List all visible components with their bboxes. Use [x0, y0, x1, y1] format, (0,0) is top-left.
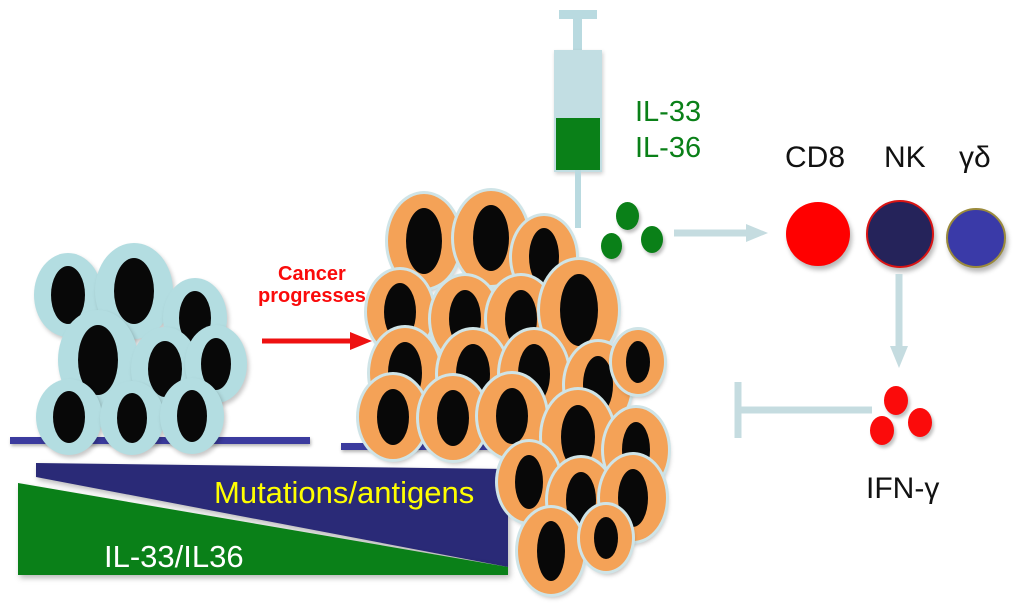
cytokine-dot	[616, 202, 639, 230]
cytokine-to-immune-arrow	[672, 221, 772, 245]
il-36-syringe-label: IL-36	[635, 132, 701, 165]
late-tumor-cell	[612, 330, 664, 394]
cell-nucleus	[437, 390, 469, 446]
cytokine-dot	[601, 233, 622, 259]
ifn-gamma-dot	[908, 408, 932, 437]
red-progression-arrow	[260, 328, 375, 354]
early-tumor-cell	[36, 379, 102, 455]
early-tumor-cell	[100, 381, 164, 455]
nk-to-ifng-arrow	[886, 272, 912, 370]
cytokine-dot	[641, 226, 663, 253]
cancer-progresses-line1: Cancer	[278, 263, 346, 285]
ifn-gamma-label: IFN-γ	[866, 472, 939, 506]
syringe-plunger-rod	[573, 17, 582, 53]
nk-label: NK	[884, 141, 926, 175]
cell-nucleus	[537, 521, 565, 581]
syringe-liquid	[556, 118, 600, 170]
cell-nucleus	[117, 393, 147, 443]
late-tumor-cell	[518, 508, 584, 594]
early-tumor-cell	[160, 378, 224, 454]
cell-nucleus	[626, 341, 650, 383]
il33-il36-label: IL-33/IL36	[104, 539, 244, 575]
cell-nucleus	[53, 391, 85, 443]
cell-nucleus	[560, 274, 598, 346]
gd-label: γδ	[959, 141, 991, 175]
cell-nucleus	[177, 390, 207, 442]
il-33-syringe-label: IL-33	[635, 96, 701, 129]
gd-t-cell	[946, 208, 1006, 268]
late-tumor-cell	[359, 375, 427, 459]
syringe-needle	[575, 170, 581, 228]
cancer-progresses-label: Cancer progresses	[258, 264, 366, 307]
cd8-cell	[786, 202, 850, 266]
cell-nucleus	[496, 388, 528, 444]
cell-nucleus	[515, 455, 543, 509]
cell-nucleus	[377, 389, 409, 445]
ifn-gamma-dot	[884, 386, 908, 415]
cell-nucleus	[473, 205, 509, 271]
cancer-progresses-line2: progresses	[258, 285, 366, 307]
cd8-label: CD8	[785, 141, 845, 175]
ifng-inhibition-bar	[730, 378, 876, 444]
il33-il36-wedge	[8, 455, 518, 580]
cell-nucleus	[594, 517, 618, 559]
cell-nucleus	[114, 258, 154, 324]
cell-nucleus	[406, 208, 442, 274]
figure-canvas: Mutations/antigens IL-33/IL36 Cancer pro…	[0, 0, 1024, 609]
late-tumor-cell	[419, 376, 487, 460]
nk-cell	[866, 200, 934, 268]
late-tumor-cell	[580, 505, 632, 571]
